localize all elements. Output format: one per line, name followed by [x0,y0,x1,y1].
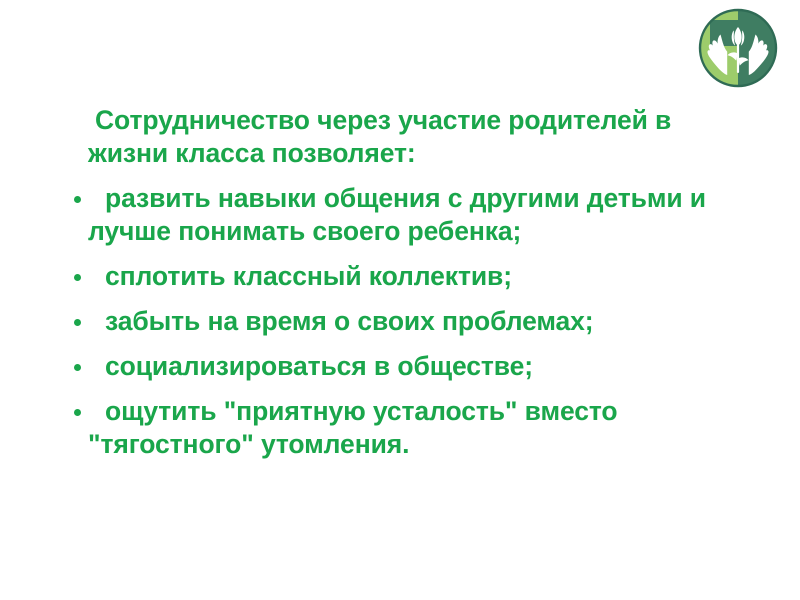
presentation-slide: Сотрудничество через участие родителей в… [0,0,800,600]
slide-title: Сотрудничество через участие родителей в… [70,104,730,170]
benefits-list: развить навыки общения с другими детьми … [70,182,730,461]
bullet-dot-icon [74,196,81,203]
bullet-dot-icon [74,364,81,371]
bullet-dot-icon [74,409,81,416]
list-item: забыть на время о своих проблемах; [70,305,730,338]
list-item-label: социализироваться в обществе; [105,351,533,381]
list-item-label: развить навыки общения с другими детьми … [88,183,706,246]
list-item-label: сплотить классный коллектив; [105,261,512,291]
list-item: развить навыки общения с другими детьми … [70,182,730,248]
bullet-dot-icon [74,319,81,326]
bullet-dot-icon [74,274,81,281]
hands-and-tulip-emblem-icon [696,6,780,90]
list-item: ощутить "приятную усталость" вместо "тяг… [70,395,730,461]
list-item: сплотить классный коллектив; [70,260,730,293]
logo [696,6,780,90]
list-item-label: забыть на время о своих проблемах; [105,306,594,336]
list-item: социализироваться в обществе; [70,350,730,383]
slide-content: Сотрудничество через участие родителей в… [70,104,730,461]
list-item-label: ощутить "приятную усталость" вместо "тяг… [88,396,618,459]
